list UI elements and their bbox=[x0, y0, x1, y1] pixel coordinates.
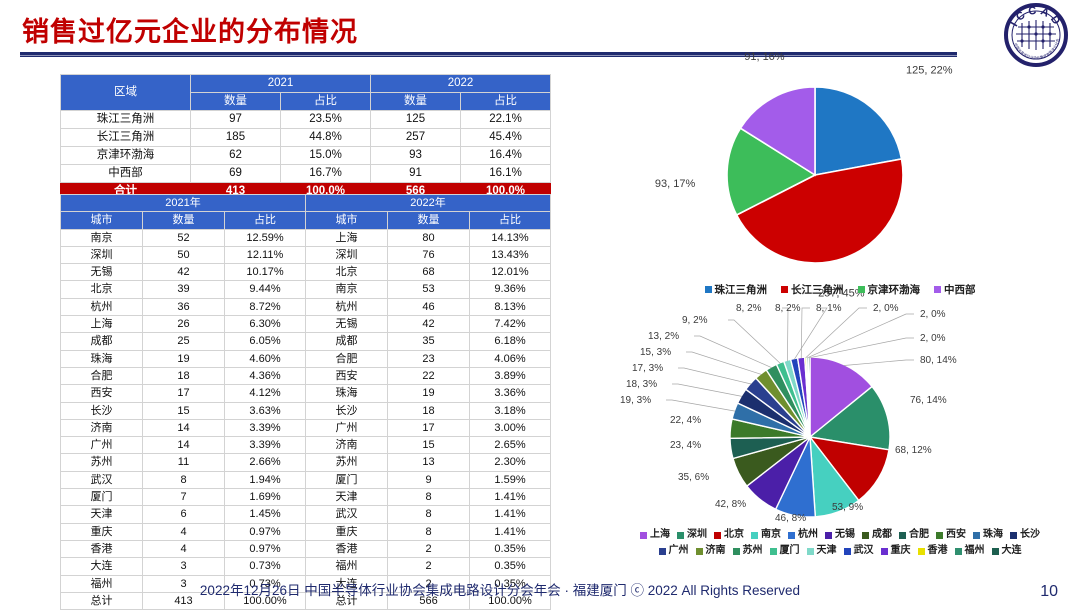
legend-swatch-icon bbox=[918, 548, 925, 555]
city-pie-svg: 80, 14%76, 14%68, 12%53, 9%46, 8%42, 8%3… bbox=[620, 325, 1050, 525]
cell-num-2021: 4 bbox=[143, 540, 225, 557]
cell-pct-2021: 1.69% bbox=[225, 489, 306, 506]
cell-pct-2022: 3.00% bbox=[470, 419, 551, 436]
legend-swatch-icon bbox=[992, 548, 999, 555]
legend-item-长沙: 长沙 bbox=[1010, 528, 1040, 542]
cell-city-2022: 武汉 bbox=[306, 506, 388, 523]
cell-num-2022: 8 bbox=[388, 506, 470, 523]
legend-label: 北京 bbox=[724, 528, 744, 542]
table-row: 香港40.97%香港20.35% bbox=[61, 540, 551, 557]
th-region: 区域 bbox=[61, 75, 191, 111]
cell-city-2022: 无锡 bbox=[306, 316, 388, 333]
pie-leader-line bbox=[672, 384, 742, 396]
city-pie-chart: 80, 14%76, 14%68, 12%53, 9%46, 8%42, 8%3… bbox=[620, 325, 1050, 525]
cell-city-2021: 北京 bbox=[61, 281, 143, 298]
th-2021-year: 2021年 bbox=[61, 195, 306, 212]
table-row: 杭州368.72%杭州468.13% bbox=[61, 298, 551, 315]
table-row: 长江三角洲 185 44.8% 257 45.4% bbox=[61, 129, 551, 147]
cell-pct-2021: 6.30% bbox=[225, 316, 306, 333]
table-row: 珠海194.60%合肥234.06% bbox=[61, 350, 551, 367]
table-row: 成都256.05%成都356.18% bbox=[61, 333, 551, 350]
city-table: 2021年 2022年 城市 数量 占比 城市 数量 占比 南京5212.59%… bbox=[60, 194, 551, 610]
cell-city-2022: 珠海 bbox=[306, 385, 388, 402]
legend-label: 福州 bbox=[965, 544, 985, 558]
cell-num-2022: 46 bbox=[388, 298, 470, 315]
pie-label: 19, 3% bbox=[620, 395, 651, 406]
pie-leader-line bbox=[809, 338, 914, 358]
pie-label: 23, 4% bbox=[670, 440, 701, 451]
cell-pct-2021: 1.45% bbox=[225, 506, 306, 523]
legend-label: 苏州 bbox=[743, 544, 763, 558]
title-rule-thin bbox=[20, 55, 957, 56]
cell-pct-2022: 0.35% bbox=[470, 540, 551, 557]
cell-num-2022: 2 bbox=[388, 540, 470, 557]
page-number: 10 bbox=[1040, 583, 1058, 601]
cell-num-2021: 7 bbox=[143, 489, 225, 506]
slide-root: 销售过亿元企业的分布情况 ICCAD bbox=[0, 0, 1080, 607]
cell-pct-2021: 6.05% bbox=[225, 333, 306, 350]
cell-num-2022: 19 bbox=[388, 385, 470, 402]
legend-item-珠海: 珠海 bbox=[973, 528, 1003, 542]
cell-share-2022: 16.4% bbox=[461, 147, 551, 165]
legend-label: 西安 bbox=[946, 528, 966, 542]
cell-pct-2021: 12.11% bbox=[225, 246, 306, 263]
cell-region: 中西部 bbox=[61, 165, 191, 183]
legend-label: 合肥 bbox=[909, 528, 929, 542]
cell-pct-2022: 1.41% bbox=[470, 506, 551, 523]
legend-swatch-icon bbox=[973, 532, 980, 539]
pie-label: 68, 12% bbox=[895, 445, 932, 456]
th-pct-2022: 占比 bbox=[470, 212, 551, 229]
legend-swatch-icon bbox=[1010, 532, 1017, 539]
cell-pct-2021: 3.39% bbox=[225, 419, 306, 436]
legend-swatch-icon bbox=[899, 532, 906, 539]
cell-share-2021: 15.0% bbox=[281, 147, 371, 165]
cell-num-2021: 14 bbox=[143, 437, 225, 454]
pie-label: 35, 6% bbox=[678, 472, 709, 483]
cell-num-2021: 52 bbox=[143, 229, 225, 246]
cell-city-2022: 苏州 bbox=[306, 454, 388, 471]
iccad-logo: ICCAD 中国半导体行业协会集成电路设计分会 bbox=[1004, 3, 1068, 67]
cell-pct-2022: 1.59% bbox=[470, 471, 551, 488]
region-pie-svg: 125, 22%257, 45%93, 17%91, 16% bbox=[640, 70, 1060, 285]
legend-label: 厦门 bbox=[780, 544, 800, 558]
legend-item-厦门: 厦门 bbox=[770, 544, 800, 558]
legend-label: 广州 bbox=[669, 544, 689, 558]
legend-label: 武汉 bbox=[854, 544, 874, 558]
pie-leader-line bbox=[666, 400, 735, 411]
cell-pct-2021: 12.59% bbox=[225, 229, 306, 246]
cell-count-2021: 62 bbox=[191, 147, 281, 165]
cell-pct-2021: 3.39% bbox=[225, 437, 306, 454]
cell-pct-2022: 1.41% bbox=[470, 489, 551, 506]
cell-pct-2021: 9.44% bbox=[225, 281, 306, 298]
pie-label: 42, 8% bbox=[715, 499, 746, 510]
pie-label: 76, 14% bbox=[910, 395, 947, 406]
city-table-body: 南京5212.59%上海8014.13%深圳5012.11%深圳7613.43%… bbox=[61, 229, 551, 610]
pie-leader-line bbox=[678, 368, 751, 384]
cell-city-2021: 南京 bbox=[61, 229, 143, 246]
cell-num-2021: 19 bbox=[143, 350, 225, 367]
cell-num-2022: 35 bbox=[388, 333, 470, 350]
legend-swatch-icon bbox=[714, 532, 721, 539]
cell-pct-2021: 1.94% bbox=[225, 471, 306, 488]
cell-pct-2022: 9.36% bbox=[470, 281, 551, 298]
th-share-2021: 占比 bbox=[281, 93, 371, 111]
legend-swatch-icon bbox=[881, 548, 888, 555]
legend-item-上海: 上海 bbox=[640, 528, 670, 542]
legend-swatch-icon bbox=[640, 532, 647, 539]
cell-pct-2021: 0.97% bbox=[225, 523, 306, 540]
th-2022: 2022 bbox=[371, 75, 551, 93]
cell-num-2021: 17 bbox=[143, 385, 225, 402]
pie-leader-line bbox=[694, 336, 772, 368]
pie-label: 2, 0% bbox=[873, 303, 899, 314]
cell-city-2021: 重庆 bbox=[61, 523, 143, 540]
cell-city-2021: 济南 bbox=[61, 419, 143, 436]
cell-num-2021: 42 bbox=[143, 264, 225, 281]
pie-label: 8, 2% bbox=[775, 303, 801, 314]
th-num-2021: 数量 bbox=[143, 212, 225, 229]
legend-item-天津: 天津 bbox=[807, 544, 837, 558]
legend-label: 杭州 bbox=[798, 528, 818, 542]
legend-label: 无锡 bbox=[835, 528, 855, 542]
table-row: 厦门71.69%天津81.41% bbox=[61, 489, 551, 506]
legend-item-济南: 济南 bbox=[696, 544, 726, 558]
legend-item-深圳: 深圳 bbox=[677, 528, 707, 542]
footer-text: 2022年12月26日 中国半导体行业协会集成电路设计分会年会 · 福建厦门 ⓒ… bbox=[0, 579, 1000, 599]
legend-swatch-icon bbox=[934, 286, 941, 293]
legend-item-珠江三角洲: 珠江三角洲 bbox=[705, 282, 768, 297]
pie-label: 80, 14% bbox=[920, 355, 957, 366]
cell-city-2021: 深圳 bbox=[61, 246, 143, 263]
legend-item-杭州: 杭州 bbox=[788, 528, 818, 542]
cell-count-2021: 185 bbox=[191, 129, 281, 147]
legend-swatch-icon bbox=[705, 286, 712, 293]
legend-label: 珠海 bbox=[983, 528, 1003, 542]
cell-city-2022: 济南 bbox=[306, 437, 388, 454]
legend-item-成都: 成都 bbox=[862, 528, 892, 542]
cell-pct-2021: 4.12% bbox=[225, 385, 306, 402]
cell-region: 京津环渤海 bbox=[61, 147, 191, 165]
city-table-subheader-row: 城市 数量 占比 城市 数量 占比 bbox=[61, 212, 551, 229]
cell-city-2021: 西安 bbox=[61, 385, 143, 402]
cell-count-2022: 257 bbox=[371, 129, 461, 147]
pie-label: 8, 2% bbox=[736, 303, 762, 314]
cell-share-2022: 16.1% bbox=[461, 165, 551, 183]
legend-swatch-icon bbox=[677, 532, 684, 539]
table-header-row: 区域 2021 2022 bbox=[61, 75, 551, 93]
cell-num-2021: 3 bbox=[143, 558, 225, 575]
cell-pct-2021: 10.17% bbox=[225, 264, 306, 281]
cell-pct-2022: 6.18% bbox=[470, 333, 551, 350]
pie-label: 125, 22% bbox=[906, 64, 953, 76]
cell-num-2022: 18 bbox=[388, 402, 470, 419]
cell-num-2022: 22 bbox=[388, 367, 470, 384]
legend-label: 长江三角洲 bbox=[791, 282, 844, 297]
cell-num-2021: 15 bbox=[143, 402, 225, 419]
cell-pct-2021: 8.72% bbox=[225, 298, 306, 315]
pie-label: 91, 16% bbox=[744, 51, 785, 63]
cell-pct-2022: 7.42% bbox=[470, 316, 551, 333]
cell-pct-2022: 4.06% bbox=[470, 350, 551, 367]
cell-num-2022: 8 bbox=[388, 523, 470, 540]
legend-label: 济南 bbox=[706, 544, 726, 558]
cell-pct-2021: 0.97% bbox=[225, 540, 306, 557]
pie-label: 22, 4% bbox=[670, 415, 701, 426]
cell-city-2021: 厦门 bbox=[61, 489, 143, 506]
cell-num-2022: 76 bbox=[388, 246, 470, 263]
cell-num-2021: 18 bbox=[143, 367, 225, 384]
legend-item-北京: 北京 bbox=[714, 528, 744, 542]
region-table-body: 珠江三角洲 97 23.5% 125 22.1% 长江三角洲 185 44.8%… bbox=[61, 111, 551, 201]
th-count-2022: 数量 bbox=[371, 93, 461, 111]
legend-item-南京: 南京 bbox=[751, 528, 781, 542]
cell-num-2022: 15 bbox=[388, 437, 470, 454]
legend-swatch-icon bbox=[936, 532, 943, 539]
legend-swatch-icon bbox=[807, 548, 814, 555]
cell-num-2021: 36 bbox=[143, 298, 225, 315]
cell-share-2021: 16.7% bbox=[281, 165, 371, 183]
city-pie-legend: 上海深圳北京南京杭州无锡成都合肥西安珠海长沙广州济南苏州厦门天津武汉重庆香港福州… bbox=[625, 527, 1055, 559]
legend-item-无锡: 无锡 bbox=[825, 528, 855, 542]
cell-city-2021: 合肥 bbox=[61, 367, 143, 384]
cell-city-2021: 武汉 bbox=[61, 471, 143, 488]
legend-swatch-icon bbox=[858, 286, 865, 293]
cell-pct-2021: 4.36% bbox=[225, 367, 306, 384]
cell-city-2021: 香港 bbox=[61, 540, 143, 557]
cell-share-2022: 45.4% bbox=[461, 129, 551, 147]
cell-city-2021: 杭州 bbox=[61, 298, 143, 315]
table-row: 无锡4210.17%北京6812.01% bbox=[61, 264, 551, 281]
legend-item-长江三角洲: 长江三角洲 bbox=[781, 282, 844, 297]
pie-label: 93, 17% bbox=[655, 178, 696, 190]
cell-city-2021: 苏州 bbox=[61, 454, 143, 471]
cell-pct-2022: 14.13% bbox=[470, 229, 551, 246]
pie-leader-line bbox=[807, 314, 914, 358]
pie-leader-line bbox=[782, 308, 788, 361]
region-table: 区域 2021 2022 数量 占比 数量 占比 珠江三角洲 97 23.5% … bbox=[60, 74, 551, 201]
cell-share-2021: 44.8% bbox=[281, 129, 371, 147]
cell-num-2021: 8 bbox=[143, 471, 225, 488]
legend-swatch-icon bbox=[659, 548, 666, 555]
cell-city-2021: 珠海 bbox=[61, 350, 143, 367]
cell-num-2022: 9 bbox=[388, 471, 470, 488]
cell-num-2021: 14 bbox=[143, 419, 225, 436]
cell-count-2022: 91 bbox=[371, 165, 461, 183]
th-num-2022: 数量 bbox=[388, 212, 470, 229]
cell-city-2021: 长沙 bbox=[61, 402, 143, 419]
cell-num-2022: 42 bbox=[388, 316, 470, 333]
table-row: 上海266.30%无锡427.42% bbox=[61, 316, 551, 333]
cell-num-2021: 11 bbox=[143, 454, 225, 471]
legend-swatch-icon bbox=[825, 532, 832, 539]
legend-label: 成都 bbox=[872, 528, 892, 542]
pie-leader-line bbox=[801, 308, 810, 358]
legend-label: 长沙 bbox=[1020, 528, 1040, 542]
legend-label: 大连 bbox=[1002, 544, 1022, 558]
table-row: 珠江三角洲 97 23.5% 125 22.1% bbox=[61, 111, 551, 129]
pie-label: 2, 0% bbox=[920, 333, 946, 344]
legend-swatch-icon bbox=[788, 532, 795, 539]
table-row: 南京5212.59%上海8014.13% bbox=[61, 229, 551, 246]
cell-num-2022: 8 bbox=[388, 489, 470, 506]
legend-label: 中西部 bbox=[944, 282, 976, 297]
region-pie-chart: 125, 22%257, 45%93, 17%91, 16% bbox=[640, 70, 1060, 285]
cell-city-2022: 上海 bbox=[306, 229, 388, 246]
cell-city-2022: 厦门 bbox=[306, 471, 388, 488]
cell-num-2021: 25 bbox=[143, 333, 225, 350]
legend-swatch-icon bbox=[844, 548, 851, 555]
legend-swatch-icon bbox=[770, 548, 777, 555]
pie-label: 2, 0% bbox=[920, 309, 946, 320]
legend-label: 上海 bbox=[650, 528, 670, 542]
table-row: 西安174.12%珠海193.36% bbox=[61, 385, 551, 402]
cell-share-2021: 23.5% bbox=[281, 111, 371, 129]
legend-label: 京津环渤海 bbox=[868, 282, 921, 297]
legend-label: 深圳 bbox=[687, 528, 707, 542]
th-city-2021: 城市 bbox=[61, 212, 143, 229]
table-row: 天津61.45%武汉81.41% bbox=[61, 506, 551, 523]
table-row: 大连30.73%福州20.35% bbox=[61, 558, 551, 575]
cell-city-2022: 香港 bbox=[306, 540, 388, 557]
cell-region: 珠江三角洲 bbox=[61, 111, 191, 129]
pie-label: 15, 3% bbox=[640, 347, 671, 358]
cell-count-2022: 125 bbox=[371, 111, 461, 129]
table-row: 长沙153.63%长沙183.18% bbox=[61, 402, 551, 419]
legend-item-福州: 福州 bbox=[955, 544, 985, 558]
legend-item-西安: 西安 bbox=[936, 528, 966, 542]
pie-label: 18, 3% bbox=[626, 379, 657, 390]
table-row: 广州143.39%济南152.65% bbox=[61, 437, 551, 454]
cell-pct-2021: 4.60% bbox=[225, 350, 306, 367]
th-2021: 2021 bbox=[191, 75, 371, 93]
legend-swatch-icon bbox=[955, 548, 962, 555]
cell-city-2021: 上海 bbox=[61, 316, 143, 333]
cell-num-2022: 53 bbox=[388, 281, 470, 298]
table-row: 中西部 69 16.7% 91 16.1% bbox=[61, 165, 551, 183]
cell-num-2022: 80 bbox=[388, 229, 470, 246]
cell-pct-2022: 3.18% bbox=[470, 402, 551, 419]
pie-label: 17, 3% bbox=[632, 363, 663, 374]
cell-share-2022: 22.1% bbox=[461, 111, 551, 129]
table-row: 京津环渤海 62 15.0% 93 16.4% bbox=[61, 147, 551, 165]
cell-city-2022: 广州 bbox=[306, 419, 388, 436]
cell-city-2021: 天津 bbox=[61, 506, 143, 523]
cell-pct-2022: 2.65% bbox=[470, 437, 551, 454]
pie-leader-line bbox=[728, 320, 780, 364]
table-row: 武汉81.94%厦门91.59% bbox=[61, 471, 551, 488]
cell-pct-2021: 3.63% bbox=[225, 402, 306, 419]
legend-label: 天津 bbox=[817, 544, 837, 558]
cell-city-2022: 杭州 bbox=[306, 298, 388, 315]
cell-num-2021: 4 bbox=[143, 523, 225, 540]
cell-num-2021: 26 bbox=[143, 316, 225, 333]
legend-label: 珠江三角洲 bbox=[715, 282, 768, 297]
legend-item-大连: 大连 bbox=[992, 544, 1022, 558]
cell-region: 长江三角洲 bbox=[61, 129, 191, 147]
cell-city-2022: 天津 bbox=[306, 489, 388, 506]
th-share-2022: 占比 bbox=[461, 93, 551, 111]
cell-city-2022: 西安 bbox=[306, 367, 388, 384]
cell-pct-2022: 1.41% bbox=[470, 523, 551, 540]
cell-pct-2022: 12.01% bbox=[470, 264, 551, 281]
legend-item-苏州: 苏州 bbox=[733, 544, 763, 558]
cell-city-2022: 重庆 bbox=[306, 523, 388, 540]
legend-swatch-icon bbox=[733, 548, 740, 555]
iccad-logo-icon: ICCAD 中国半导体行业协会集成电路设计分会 bbox=[1004, 3, 1068, 67]
cell-count-2021: 97 bbox=[191, 111, 281, 129]
cell-pct-2022: 3.89% bbox=[470, 367, 551, 384]
legend-label: 南京 bbox=[761, 528, 781, 542]
pie-label: 13, 2% bbox=[648, 331, 679, 342]
cell-num-2021: 50 bbox=[143, 246, 225, 263]
cell-city-2022: 福州 bbox=[306, 558, 388, 575]
legend-label: 重庆 bbox=[891, 544, 911, 558]
cell-num-2022: 17 bbox=[388, 419, 470, 436]
table-row: 北京399.44%南京539.36% bbox=[61, 281, 551, 298]
cell-city-2021: 无锡 bbox=[61, 264, 143, 281]
table-row: 深圳5012.11%深圳7613.43% bbox=[61, 246, 551, 263]
cell-num-2022: 2 bbox=[388, 558, 470, 575]
legend-item-京津环渤海: 京津环渤海 bbox=[858, 282, 921, 297]
cell-city-2022: 深圳 bbox=[306, 246, 388, 263]
cell-count-2022: 93 bbox=[371, 147, 461, 165]
legend-item-广州: 广州 bbox=[659, 544, 689, 558]
cell-city-2021: 广州 bbox=[61, 437, 143, 454]
pie-leader-line bbox=[806, 308, 867, 358]
cell-city-2021: 大连 bbox=[61, 558, 143, 575]
table-row: 重庆40.97%重庆81.41% bbox=[61, 523, 551, 540]
cell-pct-2021: 0.73% bbox=[225, 558, 306, 575]
th-city-2022: 城市 bbox=[306, 212, 388, 229]
cell-pct-2022: 8.13% bbox=[470, 298, 551, 315]
cell-city-2022: 成都 bbox=[306, 333, 388, 350]
table-row: 苏州112.66%苏州132.30% bbox=[61, 454, 551, 471]
cell-pct-2021: 2.66% bbox=[225, 454, 306, 471]
legend-item-合肥: 合肥 bbox=[899, 528, 929, 542]
pie-label: 46, 8% bbox=[775, 513, 806, 524]
cell-count-2021: 69 bbox=[191, 165, 281, 183]
cell-city-2022: 合肥 bbox=[306, 350, 388, 367]
th-2022-year: 2022年 bbox=[306, 195, 551, 212]
cell-city-2022: 北京 bbox=[306, 264, 388, 281]
legend-swatch-icon bbox=[781, 286, 788, 293]
table-row: 合肥184.36%西安223.89% bbox=[61, 367, 551, 384]
legend-item-中西部: 中西部 bbox=[934, 282, 976, 297]
cell-pct-2022: 3.36% bbox=[470, 385, 551, 402]
cell-pct-2022: 0.35% bbox=[470, 558, 551, 575]
cell-num-2021: 39 bbox=[143, 281, 225, 298]
cell-num-2021: 6 bbox=[143, 506, 225, 523]
legend-swatch-icon bbox=[751, 532, 758, 539]
legend-label: 香港 bbox=[928, 544, 948, 558]
cell-num-2022: 23 bbox=[388, 350, 470, 367]
legend-item-武汉: 武汉 bbox=[844, 544, 874, 558]
legend-swatch-icon bbox=[696, 548, 703, 555]
cell-pct-2022: 13.43% bbox=[470, 246, 551, 263]
cell-num-2022: 68 bbox=[388, 264, 470, 281]
cell-pct-2022: 2.30% bbox=[470, 454, 551, 471]
cell-city-2021: 成都 bbox=[61, 333, 143, 350]
legend-item-香港: 香港 bbox=[918, 544, 948, 558]
pie-label: 8, 1% bbox=[816, 303, 842, 314]
pie-label: 9, 2% bbox=[682, 315, 708, 326]
legend-swatch-icon bbox=[862, 532, 869, 539]
cell-num-2022: 13 bbox=[388, 454, 470, 471]
pie-leader-line bbox=[844, 360, 914, 365]
city-table-header-row: 2021年 2022年 bbox=[61, 195, 551, 212]
